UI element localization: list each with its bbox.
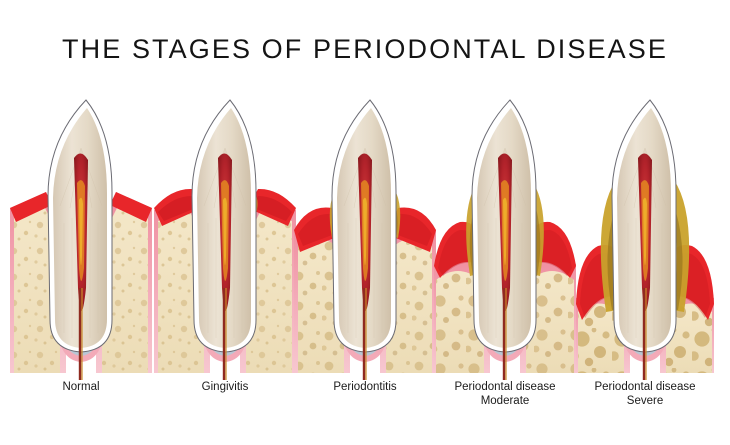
tooth-diagram-gingivitis — [152, 88, 298, 388]
stage-periodontal-disease-moderate — [432, 88, 578, 388]
stage-periodontal-disease-severe — [572, 88, 718, 388]
tooth-diagram-periodontitis — [292, 88, 438, 388]
tooth-diagram-normal — [8, 88, 154, 388]
stage-periodontitis — [292, 88, 438, 388]
page-title: THE STAGES OF PERIODONTAL DISEASE — [0, 34, 730, 65]
caption-severe: Periodontal disease Severe — [560, 380, 730, 408]
stage-gingivitis — [152, 88, 298, 388]
tooth-diagram-severe — [572, 88, 718, 388]
stage-normal — [8, 88, 154, 388]
tooth-diagram-moderate — [432, 88, 578, 388]
